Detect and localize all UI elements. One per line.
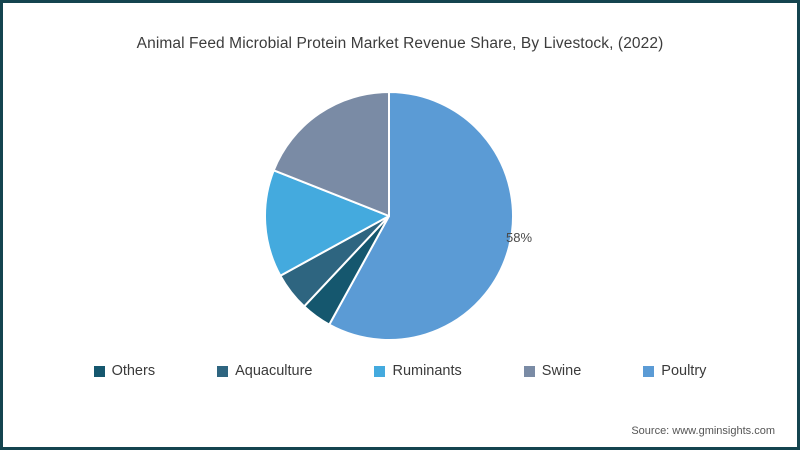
pie-chart-svg	[261, 88, 517, 344]
pie-chart	[261, 88, 517, 344]
legend-item-poultry[interactable]: Poultry	[643, 363, 706, 379]
legend-item-aquaculture[interactable]: Aquaculture	[217, 363, 312, 379]
legend-swatch-icon	[374, 366, 385, 377]
chart-card: Animal Feed Microbial Protein Market Rev…	[0, 0, 800, 450]
legend-swatch-icon	[524, 366, 535, 377]
legend-swatch-icon	[643, 366, 654, 377]
source-attribution: Source: www.gminsights.com	[631, 425, 775, 437]
chart-legend: OthersAquacultureRuminantsSwinePoultry	[3, 359, 797, 383]
legend-swatch-icon	[94, 366, 105, 377]
legend-item-label: Swine	[542, 363, 582, 379]
pie-slice-group	[265, 92, 513, 340]
legend-item-label: Poultry	[661, 363, 706, 379]
legend-swatch-icon	[217, 366, 228, 377]
legend-item-swine[interactable]: Swine	[524, 363, 582, 379]
legend-item-label: Others	[112, 363, 156, 379]
legend-item-others[interactable]: Others	[94, 363, 156, 379]
legend-item-label: Aquaculture	[235, 363, 312, 379]
pie-data-label-poultry: 58%	[506, 230, 532, 245]
legend-item-ruminants[interactable]: Ruminants	[374, 363, 461, 379]
legend-item-label: Ruminants	[392, 363, 461, 379]
page-title: Animal Feed Microbial Protein Market Rev…	[3, 35, 797, 53]
